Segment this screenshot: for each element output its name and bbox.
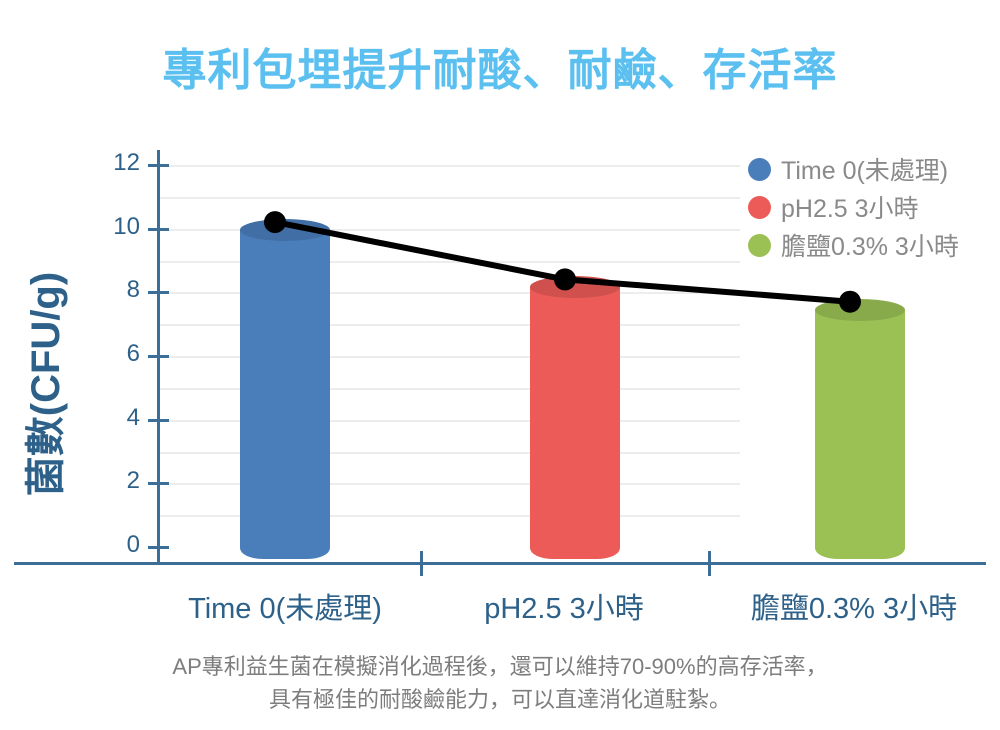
y-axis-tick-label: 8 [100,278,140,302]
x-axis-separator-tick [420,551,423,576]
x-axis-label-1: Time 0(未處理) [150,585,420,627]
y-axis-tick [148,355,169,358]
y-axis-tick-label: 2 [100,469,140,493]
y-axis-tick-label: 12 [100,151,140,175]
bar-1 [240,219,330,559]
page-title: 專利包埋提升耐酸、耐鹼、存活率 [0,34,1000,98]
bar-top-ellipse [815,299,905,321]
bar-body [530,287,620,548]
y-axis-tick [148,228,169,231]
bar-body [815,310,905,548]
y-axis-tick-label: 0 [100,533,140,557]
legend-label: Time 0(未處理) [781,151,948,187]
x-axis-label-3: 膽鹽0.3% 3小時 [708,585,1000,627]
gridline [160,197,740,199]
y-axis-title: 菌數(CFU/g) [13,234,71,534]
bar-top-ellipse [240,219,330,241]
chart-caption: AP專利益生菌在模擬消化過程後，還可以維持70-90%的高存活率， 具有極佳的耐… [0,650,1000,716]
gridline [160,165,740,167]
y-axis-tick-label: 6 [100,342,140,366]
bar-3 [815,299,905,559]
legend-swatch-circle-icon [748,158,771,181]
y-axis-tick [148,164,169,167]
bar-body [240,230,330,548]
y-axis-tick [148,291,169,294]
legend-item-1[interactable]: Time 0(未處理) [748,150,959,188]
y-axis-tick [148,482,169,485]
x-axis-label-2: pH2.5 3小時 [420,585,708,627]
x-axis-separator-tick [708,551,711,576]
legend-swatch-circle-icon [748,196,771,219]
y-axis-tick-label: 10 [100,215,140,239]
legend-item-2[interactable]: pH2.5 3小時 [748,188,959,226]
chart-legend: Time 0(未處理)pH2.5 3小時膽鹽0.3% 3小時 [748,150,959,264]
bar-2 [530,276,620,559]
legend-swatch-circle-icon [748,234,771,257]
legend-label: pH2.5 3小時 [781,189,919,225]
y-axis-tick [148,546,169,549]
y-axis-tick [148,419,169,422]
caption-line-2: 具有極佳的耐酸鹼能力，可以直達消化道駐紮。 [0,683,1000,716]
legend-item-3[interactable]: 膽鹽0.3% 3小時 [748,226,959,264]
legend-label: 膽鹽0.3% 3小時 [781,227,959,263]
y-axis-tick-label: 4 [100,406,140,430]
caption-line-1: AP專利益生菌在模擬消化過程後，還可以維持70-90%的高存活率， [0,650,1000,683]
x-axis-line [14,562,986,565]
